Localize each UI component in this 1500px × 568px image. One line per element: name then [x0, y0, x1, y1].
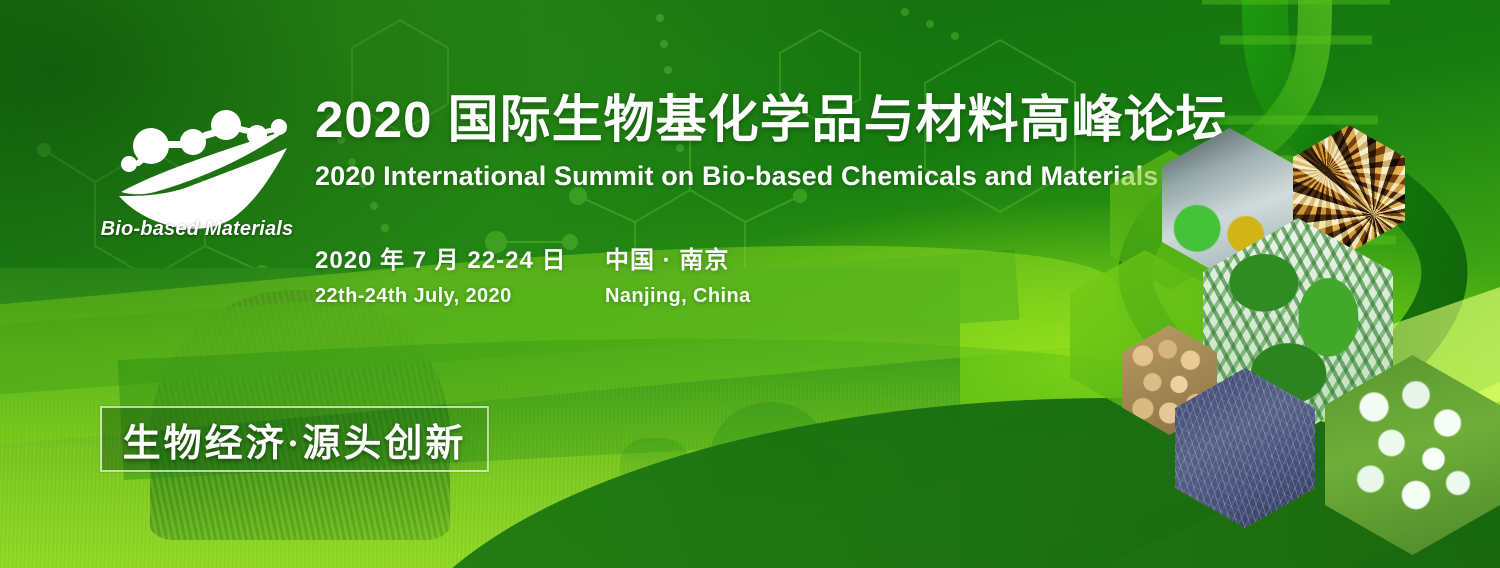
event-meta: 2020 年 7 月 22-24 日 中国 · 南京 22th-24th Jul… [315, 240, 915, 308]
event-location-en: Nanjing, China [605, 285, 751, 308]
event-date-en: 22th-24th July, 2020 [315, 285, 605, 308]
event-location-cn: 中国 · 南京 [605, 240, 729, 275]
event-date-cn: 2020 年 7 月 22-24 日 [315, 240, 605, 275]
meta-row-en: 22th-24th July, 2020 Nanjing, China [315, 285, 915, 308]
hexagon-image-cluster [1140, 0, 1500, 568]
page-title-en: 2020 International Summit on Bio-based C… [315, 161, 1195, 192]
slogan-box: 生物经济·源头创新 [100, 406, 489, 472]
slogan-text: 生物经济·源头创新 [123, 412, 467, 467]
meta-row-cn: 2020 年 7 月 22-24 日 中国 · 南京 [315, 240, 915, 275]
conference-banner: Bio-based Materials 2020 国际生物基化学品与材料高峰论坛… [0, 0, 1500, 568]
logo-label: Bio-based Materials [82, 218, 312, 241]
headline-block: 2020 国际生物基化学品与材料高峰论坛 2020 International … [315, 92, 1195, 192]
page-title-cn: 2020 国际生物基化学品与材料高峰论坛 [315, 92, 1195, 147]
